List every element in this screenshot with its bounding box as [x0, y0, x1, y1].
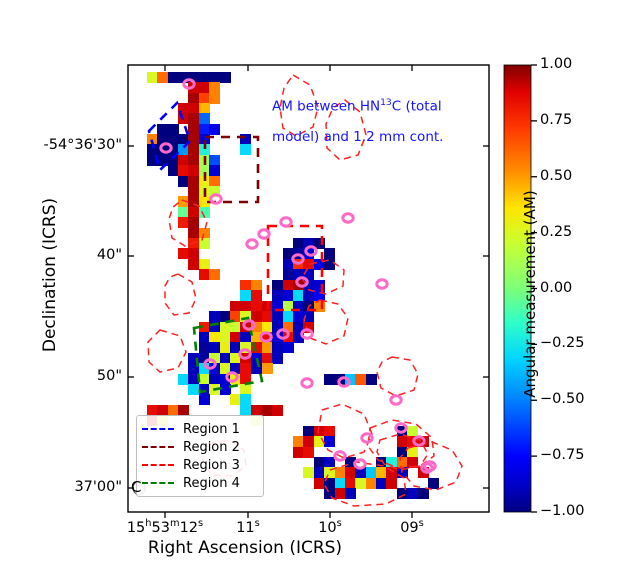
heatmap-cell	[272, 280, 283, 291]
heatmap-cell	[188, 124, 199, 135]
heatmap-cell	[199, 332, 210, 343]
heatmap-cell	[188, 103, 199, 114]
y-axis-label: Declination (ICRS)	[40, 75, 60, 475]
source-marker	[362, 434, 372, 442]
heatmap-cell	[209, 93, 220, 104]
heatmap-cell	[178, 165, 189, 176]
heatmap-cell	[240, 332, 251, 343]
heatmap-cell	[293, 311, 304, 322]
region-contour	[377, 357, 418, 396]
heatmap-cell	[376, 478, 387, 489]
heatmap-cell	[168, 72, 179, 83]
source-marker	[281, 218, 291, 226]
heatmap-cell	[178, 374, 189, 385]
source-marker	[355, 460, 365, 468]
heatmap-cell	[283, 269, 294, 280]
heatmap-cell	[199, 103, 210, 114]
heatmap-cell	[220, 332, 231, 343]
source-marker	[259, 230, 269, 238]
heatmap-cell	[188, 144, 199, 155]
heatmap-cell	[168, 165, 179, 176]
heatmap-cell	[199, 238, 210, 249]
heatmap-cell	[355, 478, 366, 489]
source-marker	[247, 240, 257, 248]
heatmap-cell	[262, 322, 273, 333]
heatmap-cell	[209, 269, 220, 280]
heatmap-cell	[209, 311, 220, 322]
y-tick-label-1: 40"	[0, 247, 122, 263]
colorbar-tick-label-7: −0.75	[540, 447, 600, 463]
legend-swatch-icon	[142, 464, 174, 466]
heatmap-cell	[178, 207, 189, 218]
heatmap-cell	[397, 436, 408, 447]
heatmap-cell	[366, 467, 377, 478]
source-marker	[391, 396, 401, 404]
heatmap-cell	[178, 176, 189, 187]
legend-swatch-icon	[142, 446, 174, 448]
heatmap-cell	[147, 72, 158, 83]
heatmap-cell	[168, 124, 179, 135]
heatmap-cell	[366, 374, 377, 385]
heatmap-cell	[188, 384, 199, 395]
heatmap-cell	[324, 374, 335, 385]
heatmap-cell	[314, 478, 325, 489]
heatmap-cell	[303, 447, 314, 458]
y-tick-label-0: -54°36'30"	[0, 137, 122, 153]
y-tick-label-2: 50"	[0, 368, 122, 384]
heatmap-cell	[324, 436, 335, 447]
heatmap-cell	[178, 155, 189, 166]
heatmap-cell	[199, 72, 210, 83]
heatmap-cell	[188, 228, 199, 239]
heatmap-cell	[376, 467, 387, 478]
heatmap-cell	[303, 436, 314, 447]
x-axis-label: Right Ascension (ICRS)	[0, 538, 490, 558]
heatmap-cell	[209, 374, 220, 385]
heatmap-cell	[283, 311, 294, 322]
heatmap-cell	[188, 93, 199, 104]
heatmap-cell	[262, 342, 273, 353]
heatmap-cell	[157, 72, 168, 83]
heatmap-cell	[178, 217, 189, 228]
heatmap-cell	[240, 280, 251, 291]
heatmap-cell	[272, 311, 283, 322]
heatmap-cell	[220, 342, 231, 353]
heatmap-cell	[293, 238, 304, 249]
heatmap-cell	[188, 155, 199, 166]
colorbar-tick-label-3: 0.25	[540, 224, 600, 240]
heatmap-cell	[251, 363, 262, 374]
heatmap-cell	[418, 488, 429, 499]
colorbar-tick-label-4: 0.00	[540, 280, 600, 296]
heatmap-cell	[209, 82, 220, 93]
heatmap-cell	[324, 488, 335, 499]
heatmap-cell	[283, 342, 294, 353]
heatmap-cell	[314, 290, 325, 301]
heatmap-cell	[324, 457, 335, 468]
heatmap-cell	[324, 248, 335, 259]
heatmap-cell	[209, 332, 220, 343]
heatmap-cell	[314, 280, 325, 291]
colorbar-tick-label-0: 1.00	[540, 56, 600, 72]
heatmap-cell	[209, 124, 220, 135]
heatmap-cell	[230, 332, 241, 343]
colorbar-tick-label-1: 0.75	[540, 112, 600, 128]
heatmap-cell	[272, 353, 283, 364]
heatmap-cell	[262, 405, 273, 416]
heatmap-cell	[262, 353, 273, 364]
region-legend[interactable]: Region 1Region 2Region 3Region 4	[136, 415, 264, 497]
heatmap-cell	[230, 394, 241, 405]
heatmap-cell	[293, 290, 304, 301]
heatmap-cell	[199, 93, 210, 104]
legend-swatch-icon	[142, 482, 174, 484]
heatmap-cell	[428, 478, 439, 489]
heatmap-cell	[199, 113, 210, 124]
heatmap-cell	[407, 426, 418, 437]
heatmap-cell	[188, 113, 199, 124]
source-marker	[302, 379, 312, 387]
annotation-text: AM between HN13C (total model) and 1.2 m…	[272, 88, 462, 152]
heatmap-cell	[262, 311, 273, 322]
heatmap-cell	[199, 269, 210, 280]
heatmap-cell	[188, 217, 199, 228]
heatmap-cell	[199, 82, 210, 93]
heatmap-cell	[240, 134, 251, 145]
heatmap-cell	[240, 394, 251, 405]
colorbar-tick-label-2: 0.50	[540, 168, 600, 184]
colorbar-tick-label-8: −1.00	[540, 503, 600, 519]
source-marker	[343, 214, 353, 222]
heatmap-cell	[220, 353, 231, 364]
legend-item-4[interactable]: Region 4	[142, 474, 257, 492]
heatmap-cell	[272, 342, 283, 353]
heatmap-cell	[283, 290, 294, 301]
heatmap-cell	[335, 488, 346, 499]
heatmap-cell	[386, 478, 397, 489]
region-contour	[165, 274, 196, 315]
heatmap-cell	[188, 134, 199, 145]
heatmap-cell	[230, 301, 241, 312]
colorbar-tick-label-6: −0.50	[540, 391, 600, 407]
annotation-line-1: AM between HN13C (total	[272, 88, 462, 122]
heatmap-cell	[303, 467, 314, 478]
heatmap-cell	[397, 488, 408, 499]
legend-swatch-icon	[142, 428, 174, 430]
heatmap-cell	[199, 124, 210, 135]
heatmap-cell	[188, 259, 199, 270]
heatmap-cell	[188, 207, 199, 218]
heatmap-cell	[199, 374, 210, 385]
legend-item-label: Region 3	[183, 458, 240, 473]
legend-item-label: Region 4	[183, 476, 240, 491]
heatmap-cell	[199, 228, 210, 239]
source-marker	[211, 195, 221, 203]
heatmap-cell	[366, 478, 377, 489]
region-contour	[148, 330, 186, 372]
heatmap-cell	[209, 176, 220, 187]
heatmap-cell	[209, 72, 220, 83]
heatmap-cell	[251, 280, 262, 291]
heatmap-cell	[199, 394, 210, 405]
heatmap-cell	[188, 176, 199, 187]
heatmap-cell	[407, 488, 418, 499]
annotation-line-2: model) and 1.2 mm cont.	[272, 122, 462, 152]
heatmap-cell	[293, 436, 304, 447]
heatmap-cell	[251, 290, 262, 301]
heatmap-cell	[199, 259, 210, 270]
heatmap-cell	[220, 72, 231, 83]
heatmap-cell	[283, 280, 294, 291]
legend-item-1[interactable]: Region 1	[142, 420, 257, 438]
heatmap-cell	[397, 447, 408, 458]
heatmap-cell	[209, 342, 220, 353]
heatmap-cell	[303, 426, 314, 437]
heatmap-cell	[209, 155, 220, 166]
heatmap-cell	[220, 322, 231, 333]
heatmap-cell	[324, 426, 335, 437]
colorbar-label: Angular measurement (AM)	[521, 94, 539, 494]
heatmap-cell	[314, 467, 325, 478]
heatmap-cell	[240, 144, 251, 155]
legend-item-label: Region 1	[183, 422, 240, 437]
heatmap-cell	[272, 405, 283, 416]
heatmap-cell	[355, 374, 366, 385]
heatmap-cell	[240, 301, 251, 312]
heatmap-cell	[188, 165, 199, 176]
heatmap-cell	[230, 322, 241, 333]
heatmap-cell	[303, 290, 314, 301]
heatmap-cell	[345, 488, 356, 499]
panel-letter: C	[131, 478, 141, 496]
x-tick-label-3: 09s	[352, 518, 472, 536]
heatmap-cell	[188, 248, 199, 259]
colorbar-tick-label-5: −0.25	[540, 335, 600, 351]
heatmap-cell	[251, 301, 262, 312]
heatmap-cell	[303, 259, 314, 270]
heatmap-cell	[157, 124, 168, 135]
heatmap-cell	[314, 457, 325, 468]
legend-item-label: Region 2	[183, 440, 240, 455]
y-tick-label-3: 37'00"	[0, 479, 122, 495]
heatmap-cell	[345, 478, 356, 489]
source-marker	[377, 280, 387, 288]
heatmap-cell	[293, 447, 304, 458]
heatmap-cell	[188, 186, 199, 197]
heatmap-cell	[209, 165, 220, 176]
heatmap-cell	[272, 290, 283, 301]
heatmap-cell	[262, 363, 273, 374]
heatmap-cell	[199, 342, 210, 353]
heatmap-cell	[240, 290, 251, 301]
legend-item-3[interactable]: Region 3	[142, 456, 257, 474]
heatmap-cell	[335, 478, 346, 489]
heatmap-cell	[345, 467, 356, 478]
heatmap-cell	[178, 248, 189, 259]
heatmap-cell	[407, 447, 418, 458]
heatmap-cell	[240, 384, 251, 395]
legend-item-2[interactable]: Region 2	[142, 438, 257, 456]
heatmap-cell	[240, 363, 251, 374]
heatmap-cell	[397, 457, 408, 468]
